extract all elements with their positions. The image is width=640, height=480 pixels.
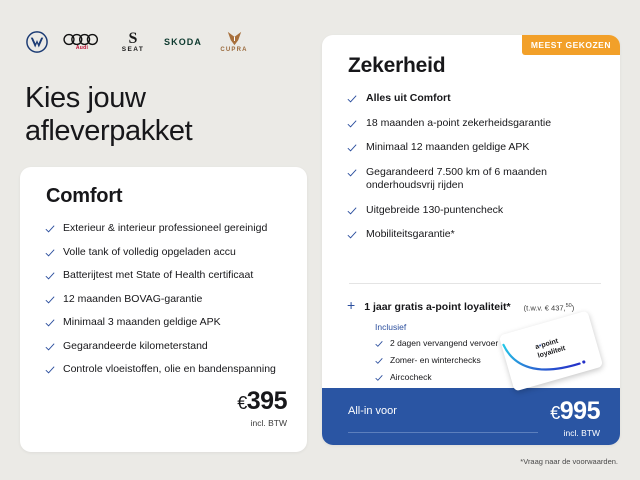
check-icon (375, 340, 383, 348)
price-amount: 395 (247, 387, 287, 415)
check-icon (347, 143, 357, 153)
feature-label: Gegarandeerde kilometerstand (63, 340, 208, 354)
check-icon (45, 224, 55, 234)
check-icon (375, 374, 383, 382)
loyalty-value: (t.w.v. € 437,50) (524, 303, 575, 313)
comfort-price-block: €395 incl. BTW (237, 388, 287, 428)
status-badge: MEEST GEKOZEN (522, 35, 620, 55)
feature-label: 12 maanden BOVAG-garantie (63, 293, 202, 307)
feature-label: Mobiliteitsgarantie* (366, 228, 455, 242)
feature-label: Uitgebreide 130-puntencheck (366, 204, 503, 218)
list-item: Gegarandeerd 7.500 km of 6 maanden onder… (347, 166, 609, 193)
check-icon (45, 365, 55, 375)
section-divider (349, 283, 601, 284)
list-item: Controle vloeistoffen, olie en bandenspa… (45, 363, 283, 377)
currency-symbol: € (237, 393, 247, 413)
comfort-price: €395 (237, 388, 287, 416)
feature-label: Minimaal 12 maanden geldige APK (366, 141, 529, 155)
feature-label: Controle vloeistoffen, olie en bandenspa… (63, 363, 276, 377)
list-item: Uitgebreide 130-puntencheck (347, 204, 609, 218)
included-label: Zomer- en winterchecks (390, 355, 481, 366)
plus-icon: + (347, 299, 355, 311)
zekerheid-package-card[interactable]: MEEST GEKOZEN Zekerheid Alles uit Comfor… (322, 35, 620, 445)
zekerheid-price: €995 (550, 398, 600, 427)
zekerheid-price-note: incl. BTW (550, 428, 600, 438)
check-icon (347, 230, 357, 240)
list-item: 18 maanden a-point zekerheidsgarantie (347, 117, 609, 131)
list-item: Volle tank of volledig opgeladen accu (45, 246, 283, 260)
feature-label: Minimaal 3 maanden geldige APK (63, 316, 221, 330)
currency-symbol: € (550, 403, 560, 423)
check-icon (45, 295, 55, 305)
list-item: Mobiliteitsgarantie* (347, 228, 609, 242)
skoda-logo-icon: SKODA (164, 37, 202, 47)
feature-label: Gegarandeerd 7.500 km of 6 maanden onder… (366, 166, 609, 193)
check-icon (375, 357, 383, 365)
page-title: Kies jouw afleverpakket (25, 82, 275, 148)
comfort-title: Comfort (46, 185, 122, 208)
price-amount: 995 (560, 397, 600, 425)
loyalty-value-suffix: ) (572, 303, 575, 312)
footnote: *Vraag naar de voorwaarden. (520, 457, 618, 466)
comfort-package-card[interactable]: Comfort Exterieur & interieur profession… (20, 167, 307, 452)
check-icon (45, 248, 55, 258)
list-item: Minimaal 12 maanden geldige APK (347, 141, 609, 155)
list-item: Alles uit Comfort (347, 92, 609, 106)
skoda-wordmark: SKODA (164, 37, 202, 47)
list-item: Batterijtest met State of Health certifi… (45, 269, 283, 283)
check-icon (45, 318, 55, 328)
feature-label: 18 maanden a-point zekerheidsgarantie (366, 117, 551, 131)
audi-logo-icon: Audi (62, 31, 102, 53)
comfort-feature-list: Exterieur & interieur professioneel gere… (45, 222, 283, 387)
zekerheid-feature-list: Alles uit Comfort 18 maanden a-point zek… (347, 92, 609, 253)
cupra-wordmark: CUPRA (220, 47, 247, 53)
seat-mark: S (129, 32, 138, 46)
check-icon (45, 271, 55, 281)
comfort-price-note: incl. BTW (237, 418, 287, 428)
volkswagen-logo-icon (26, 31, 48, 53)
seat-logo-icon: S SEAT (116, 32, 150, 53)
list-item: 12 maanden BOVAG-garantie (45, 293, 283, 307)
cupra-logo-icon: CUPRA (216, 31, 252, 53)
audi-wordmark: Audi (76, 45, 88, 51)
check-icon (347, 168, 357, 178)
loyalty-value-prefix: (t.w.v. € 437, (524, 303, 566, 312)
check-icon (45, 342, 55, 352)
feature-label: Exterieur & interieur professioneel gere… (63, 222, 267, 236)
loyalty-headline-row: + 1 jaar gratis a-point loyaliteit* (t.w… (347, 299, 615, 313)
loyalty-title: 1 jaar gratis a-point loyaliteit* (364, 301, 510, 313)
list-item: Gegarandeerde kilometerstand (45, 340, 283, 354)
check-icon (347, 206, 357, 216)
all-in-price-bar: All-in voor €995 incl. BTW (322, 388, 620, 445)
price-underline (348, 432, 538, 433)
included-label: 2 dagen vervangend vervoer (390, 338, 498, 349)
all-in-label: All-in voor (348, 405, 397, 417)
check-icon (347, 119, 357, 129)
zekerheid-price-block: €995 incl. BTW (550, 398, 600, 438)
included-label: Aircocheck (390, 372, 432, 383)
brand-logo-strip: Audi S SEAT SKODA CUPRA (26, 29, 252, 55)
list-item: Minimaal 3 maanden geldige APK (45, 316, 283, 330)
seat-wordmark: SEAT (122, 46, 144, 53)
feature-label: Batterijtest met State of Health certifi… (63, 269, 253, 283)
page-root: Audi S SEAT SKODA CUPRA Kies jouw afleve… (0, 0, 640, 480)
check-icon (347, 94, 357, 104)
list-item: Exterieur & interieur professioneel gere… (45, 222, 283, 236)
zekerheid-title: Zekerheid (348, 54, 445, 78)
feature-label: Alles uit Comfort (366, 92, 451, 106)
feature-label: Volle tank of volledig opgeladen accu (63, 246, 236, 260)
